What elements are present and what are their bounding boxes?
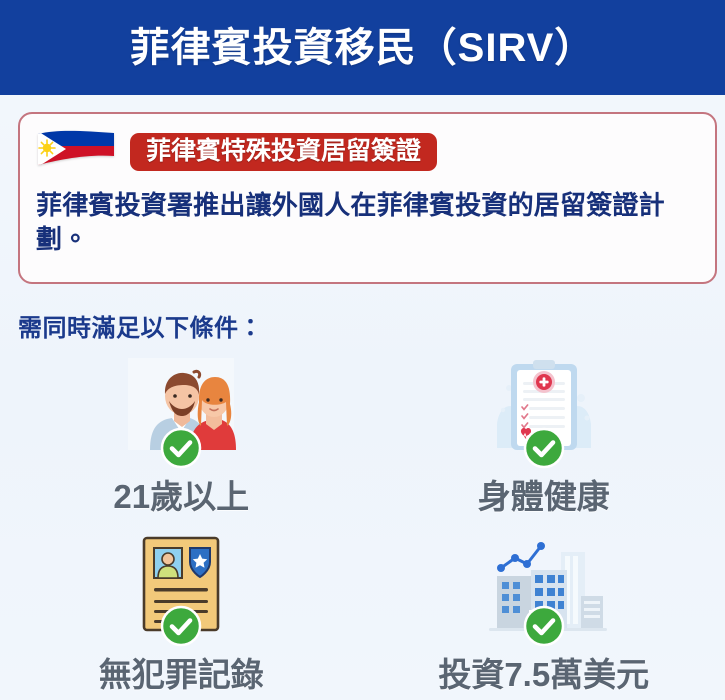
condition-item-age: 21歲以上 [0,352,363,530]
infographic-page: 菲律賓投資移民（SIRV） [0,0,725,700]
intro-card: 菲律賓特殊投資居留簽證 菲律賓投資署推出讓外國人在菲律賓投資的居留簽證計劃。 [18,112,717,284]
intro-card-body-text: 菲律賓投資署推出讓外國人在菲律賓投資的居留簽證計劃。 [36,188,697,257]
condition-label: 無犯罪記錄 [99,657,264,693]
condition-label: 21歲以上 [113,479,249,515]
visa-name-badge: 菲律賓特殊投資居留簽證 [130,133,437,171]
condition-label: 投資7.5萬美元 [438,657,649,693]
conditions-section-title: 需同時滿足以下條件： [18,308,263,343]
condition-item-health: 身體健康 [363,352,725,530]
visa-name-badge-label: 菲律賓特殊投資居留簽證 [146,138,421,164]
conditions-grid: 21歲以上 [0,352,725,700]
medical-clipboard-icon [469,352,619,457]
condition-item-investment: 投資7.5萬美元 [363,530,725,700]
city-buildings-icon [469,530,619,635]
check-badge-icon [523,427,565,469]
philippines-flag-icon [36,130,116,174]
header-banner: 菲律賓投資移民（SIRV） [0,0,725,95]
check-badge-icon [523,605,565,647]
page-title: 菲律賓投資移民（SIRV） [130,28,596,68]
couple-icon [106,352,256,457]
check-badge-icon [160,605,202,647]
intro-card-header: 菲律賓特殊投資居留簽證 [36,128,697,176]
condition-item-no-criminal-record: 無犯罪記錄 [0,530,363,700]
condition-label: 身體健康 [478,479,610,515]
id-document-icon [106,530,256,635]
check-badge-icon [160,427,202,469]
